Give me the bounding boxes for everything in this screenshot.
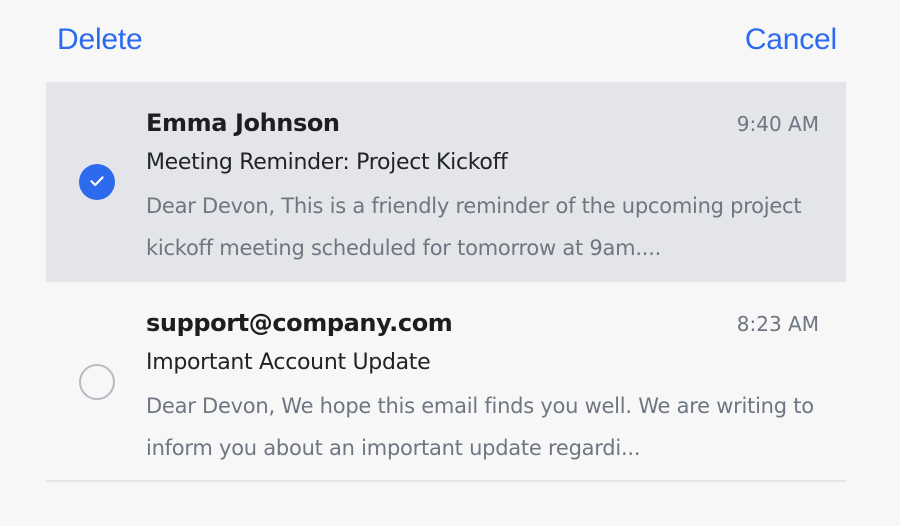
check-circle-filled-icon[interactable] <box>79 164 115 200</box>
action-bar: Delete Cancel <box>0 0 900 82</box>
email-selection-screen: Delete Cancel Emma Johnson 9:40 AM Meeti… <box>0 0 900 526</box>
email-list-item[interactable]: support@company.com 8:23 AM Important Ac… <box>46 282 846 482</box>
email-content: Emma Johnson 9:40 AM Meeting Reminder: P… <box>146 82 819 282</box>
email-subject: Important Account Update <box>146 349 819 377</box>
email-header-line: support@company.com 8:23 AM <box>146 308 819 338</box>
email-timestamp: 8:23 AM <box>721 310 819 338</box>
email-timestamp: 9:40 AM <box>721 110 819 138</box>
email-preview: Dear Devon, We hope this email finds you… <box>146 385 819 469</box>
email-sender: Emma Johnson <box>146 108 340 138</box>
email-sender: support@company.com <box>146 308 452 338</box>
email-content: support@company.com 8:23 AM Important Ac… <box>146 282 819 482</box>
circle-outline-icon[interactable] <box>79 364 115 400</box>
email-preview: Dear Devon, This is a friendly reminder … <box>146 185 819 269</box>
cancel-button[interactable]: Cancel <box>745 21 837 59</box>
delete-button[interactable]: Delete <box>57 21 143 59</box>
email-list: Emma Johnson 9:40 AM Meeting Reminder: P… <box>0 82 900 482</box>
email-header-line: Emma Johnson 9:40 AM <box>146 108 819 138</box>
email-list-item[interactable]: Emma Johnson 9:40 AM Meeting Reminder: P… <box>46 82 846 282</box>
email-subject: Meeting Reminder: Project Kickoff <box>146 149 819 177</box>
